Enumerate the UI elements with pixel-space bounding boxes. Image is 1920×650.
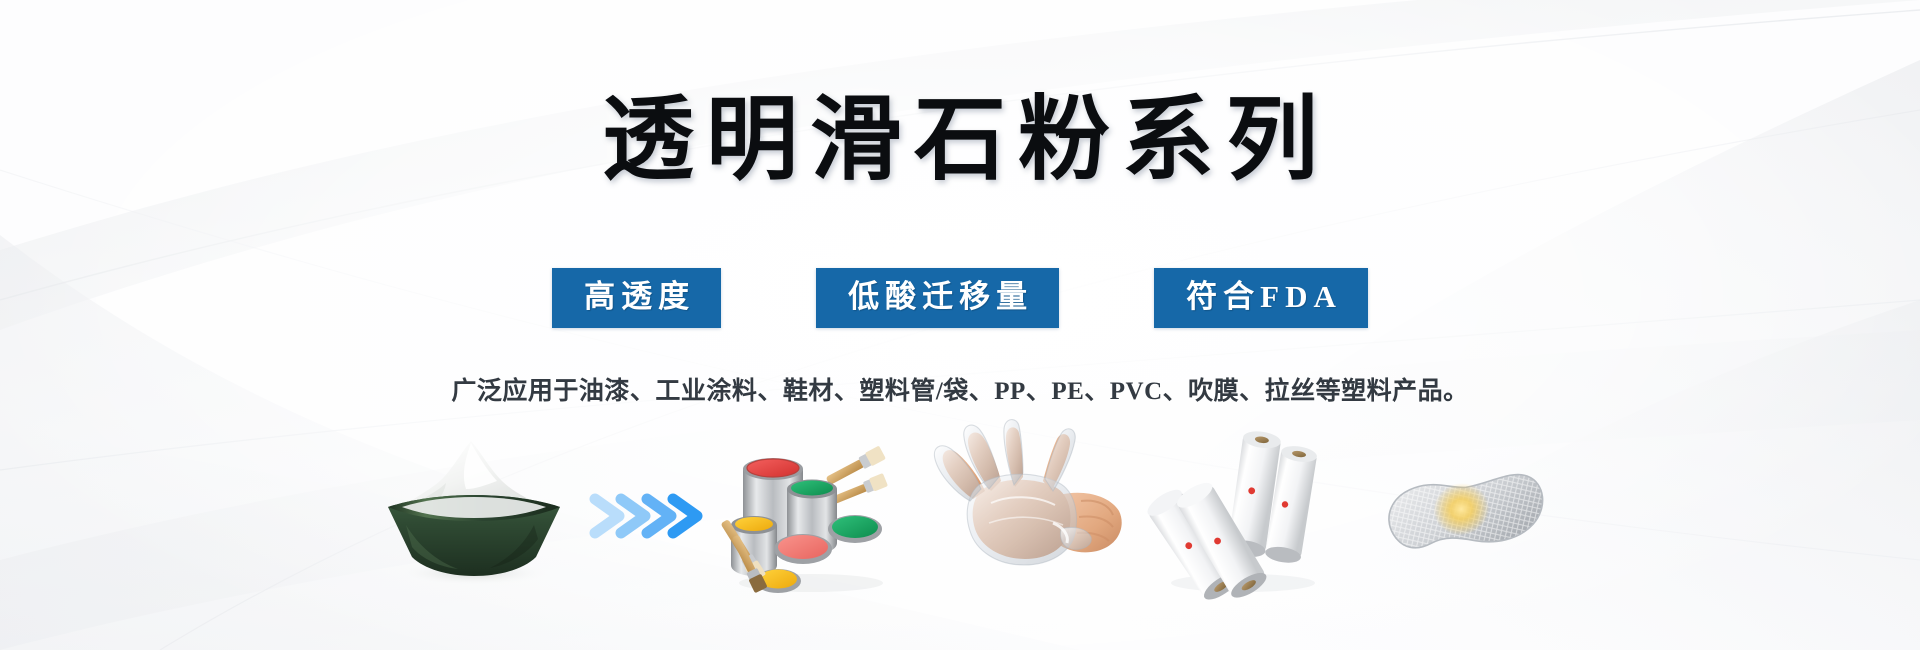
badge-high-transparency[interactable]: 高透度 [552,268,721,328]
product-banner: 透明滑石粉系列 高透度 低酸迁移量 符合FDA 广泛应用于油漆、工业涂料、鞋材、… [0,0,1920,650]
shoe-sole-image [1354,433,1554,598]
feature-badge-group: 高透度 低酸迁移量 符合FDA [0,268,1920,328]
process-arrows-icon [581,433,709,598]
application-description: 广泛应用于油漆、工业涂料、鞋材、塑料管/袋、PP、PE、PVC、吹膜、拉丝等塑料… [0,371,1920,407]
gloved-hand-image [931,433,1126,598]
paint-cans-and-brushes-image [715,433,915,598]
product-application-strip [0,430,1920,600]
plastic-film-rolls-image [1148,433,1338,598]
talc-powder-in-bowl-image [366,433,581,598]
badge-low-acid-migration[interactable]: 低酸迁移量 [816,268,1059,328]
page-title: 透明滑石粉系列 [0,86,1920,195]
badge-fda-compliant[interactable]: 符合FDA [1154,268,1368,328]
